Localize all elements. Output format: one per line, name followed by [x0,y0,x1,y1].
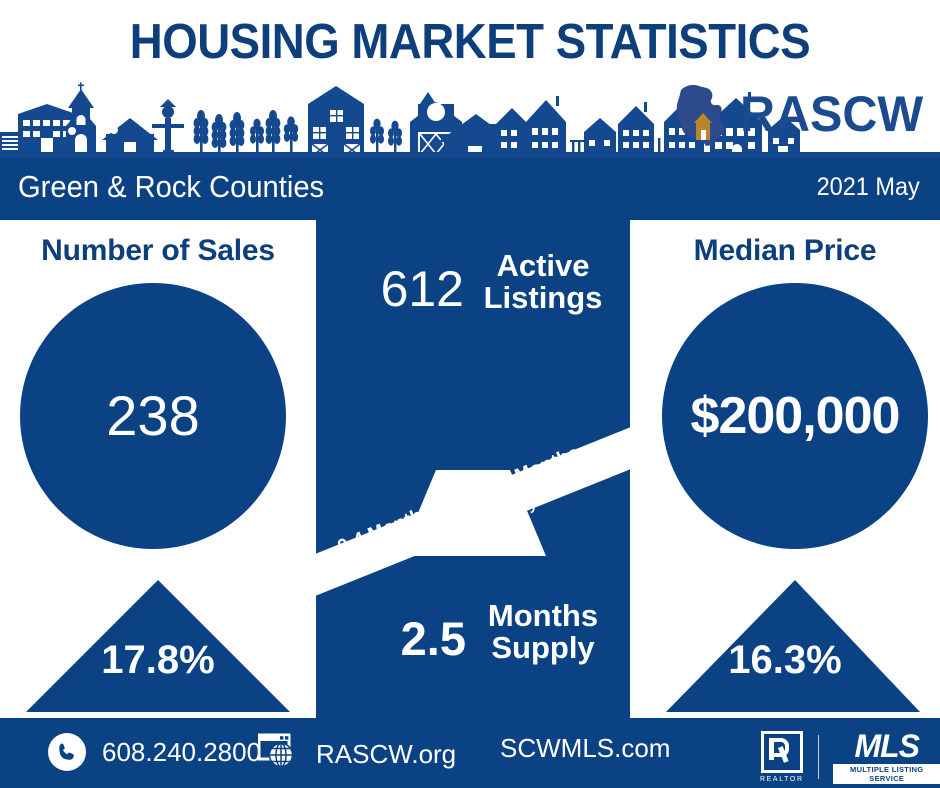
footer-bar: 608.240.2800 [0,718,940,788]
realtor-label: REALTOR [760,776,804,783]
mls-wordmark: MLS [854,730,919,762]
number-of-sales-circle: 238 [20,283,286,549]
up-triangle-icon [0,550,316,718]
months-supply-value: 2.5 [336,611,466,666]
phone-number: 608.240.2800 [102,737,261,768]
footer-website[interactable]: RASCW.org [258,733,456,776]
footer-logos: REALTOR MLS MULTIPLE LISTING SERVICE [760,730,940,784]
realtor-r-icon [761,731,803,773]
website-url: RASCW.org [316,739,456,770]
mls-logo: MLS MULTIPLE LISTING SERVICE [833,730,940,784]
logo-wordmark: RASCW [740,85,923,143]
footer-mls-site[interactable]: SCWMLS.com [500,733,670,764]
months-supply-label-line1: Months [468,600,618,632]
rascw-logo: RASCW [668,82,940,154]
mls-caption: MULTIPLE LISTING SERVICE [833,764,940,784]
median-price-trend: 16.3% [630,550,940,718]
number-of-sales-trend: 17.8% [0,550,316,718]
header: HOUSING MARKET STATISTICS [0,0,940,158]
number-of-sales-panel: Number of Sales 238 17.8% [0,220,316,718]
footer-phone[interactable]: 608.240.2800 [48,733,261,771]
center-panel: 612 Active Listings 0-4 Months Sellers M… [316,220,630,718]
number-of-sales-value: 238 [106,388,199,444]
page-title: HOUSING MARKET STATISTICS [33,14,907,70]
phone-icon [48,733,86,771]
logo-divider [818,735,820,779]
region-label: Green & Rock Counties [18,169,324,205]
infographic-page: HOUSING MARKET STATISTICS [0,0,940,788]
mls-site-url: SCWMLS.com [500,733,670,764]
number-of-sales-change: 17.8% [0,638,316,683]
realtor-logo: REALTOR [760,731,804,783]
browser-globe-icon [258,733,298,776]
median-price-panel: Median Price $200,000 16.3% [630,220,940,718]
median-price-circle: $200,000 [662,283,928,549]
months-supply-label: Months Supply [468,600,618,664]
number-of-sales-heading: Number of Sales [0,234,316,268]
median-price-value: $200,000 [691,390,900,442]
up-triangle-icon [630,550,940,718]
months-supply-label-line2: Supply [468,632,618,664]
median-price-change: 16.3% [630,638,940,683]
period-label: 2021 May [817,173,920,202]
median-price-heading: Median Price [630,234,940,268]
wisconsin-state-with-house-icon [670,82,736,148]
subtitle-bar: Green & Rock Counties 2021 May [0,158,940,220]
